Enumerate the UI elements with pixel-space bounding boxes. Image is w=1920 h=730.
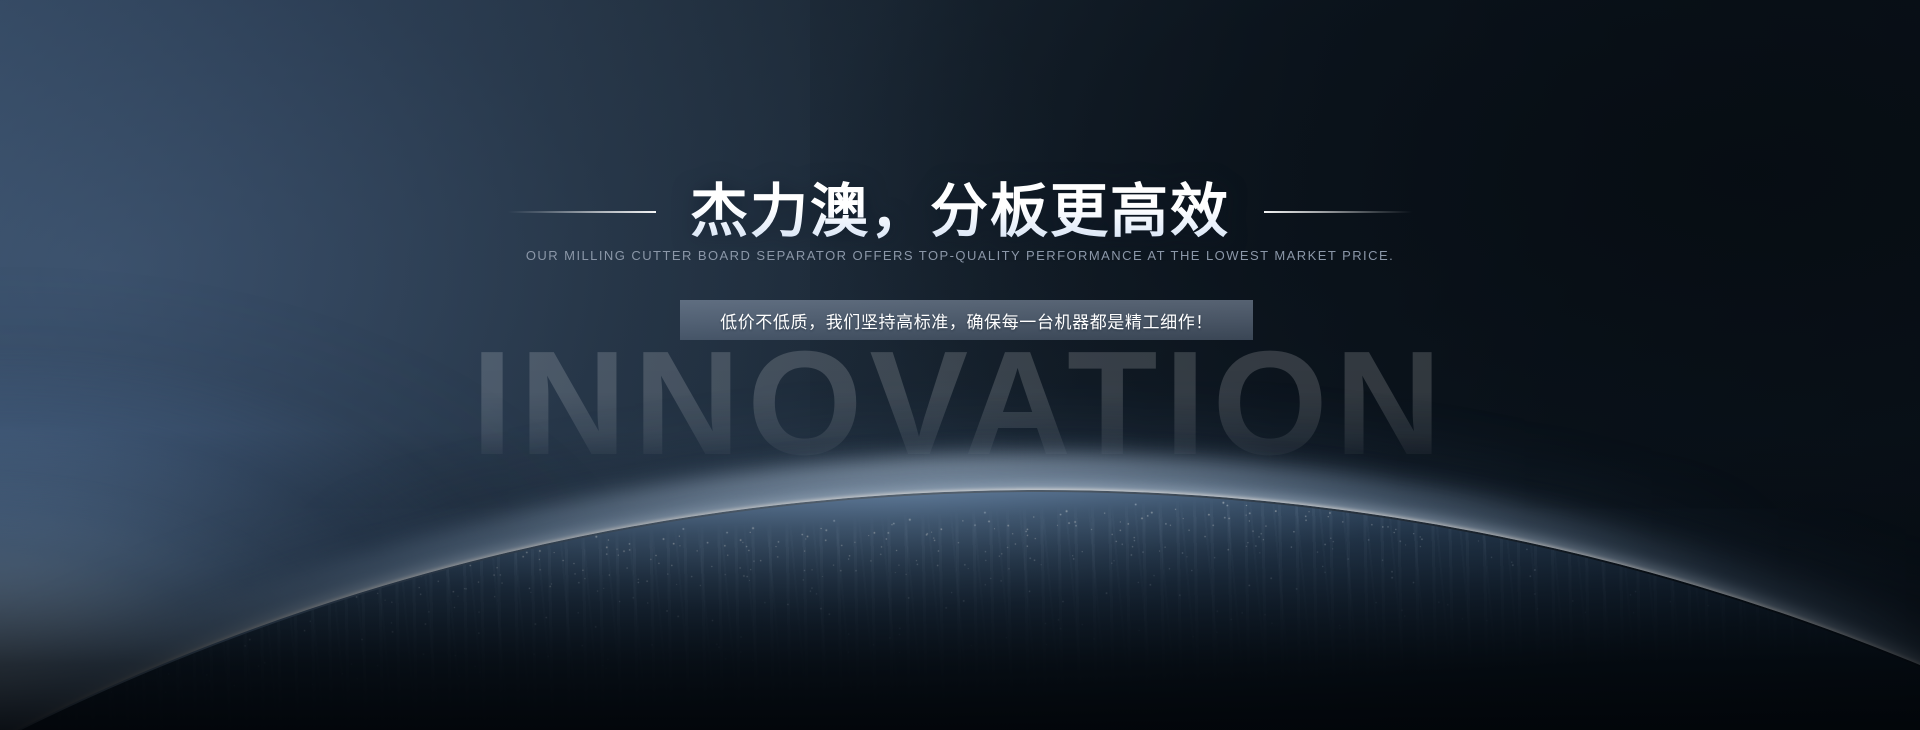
page-title: 杰力澳，分板更高效 (690, 179, 1230, 245)
title-rule-right-icon (1264, 211, 1412, 213)
title-rule-left-icon (508, 211, 656, 213)
banner-content: 杰力澳，分板更高效 OUR MILLING CUTTER BOARD SEPAR… (0, 0, 1920, 730)
hero-banner: INNOVATION 杰力澳，分板更高效 OUR MILLING CUTTER … (0, 0, 1920, 730)
subtitle: OUR MILLING CUTTER BOARD SEPARATOR OFFER… (0, 248, 1920, 263)
tagline-bar: 低价不低质，我们坚持高标准，确保每一台机器都是精工细作！ (680, 300, 1253, 340)
tagline-text: 低价不低质，我们坚持高标准，确保每一台机器都是精工细作！ (720, 308, 1213, 333)
